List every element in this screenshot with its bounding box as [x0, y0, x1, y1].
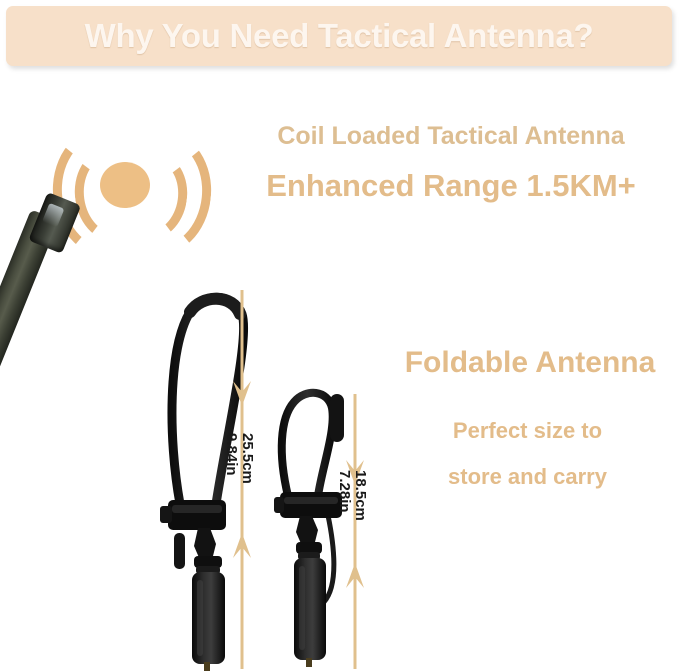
- dimension-label-extended: 25.5cm 9.84in: [224, 433, 256, 484]
- product-infographic: Why You Need Tactical Antenna? Coil Load…: [0, 0, 679, 671]
- headline-title: Enhanced Range 1.5KM+: [222, 168, 679, 204]
- header-banner: Why You Need Tactical Antenna?: [6, 6, 672, 66]
- dimension-label-folded: 18.5cm 7.28in: [337, 470, 369, 521]
- feature-title: Foldable Antenna: [380, 346, 679, 380]
- headline-subtitle: Coil Loaded Tactical Antenna: [225, 122, 677, 151]
- dimension-line-folded: [341, 392, 369, 671]
- antenna-shaft: [0, 209, 59, 671]
- feature-line-2: store and carry: [400, 464, 655, 490]
- feature-line-1: Perfect size to: [400, 418, 655, 444]
- page-title: Why You Need Tactical Antenna?: [6, 6, 672, 66]
